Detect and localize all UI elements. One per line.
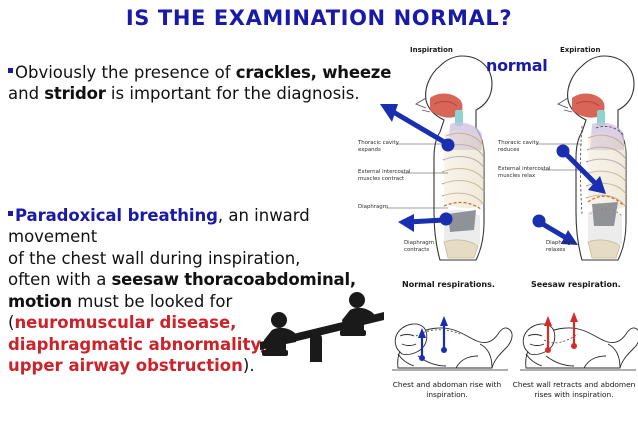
respiration-comparison-figure: Normal respirations. Seesaw respiration. <box>388 280 638 424</box>
annotation-diaphragm-relaxes: Diaphragm relaxes <box>546 240 586 253</box>
figure-heading-expiration: Expiration <box>560 46 600 54</box>
bullet-1-text-c: is important for the diagnosis. <box>106 84 360 103</box>
square-bullet-icon <box>8 68 13 73</box>
page-title: IS THE EXAMINATION NORMAL? <box>0 6 638 30</box>
figure-heading-inspiration: Inspiration <box>410 46 453 54</box>
annotation-diaphragm-contracts: Diaphragm contracts <box>404 240 444 253</box>
bullet-2-text-b: often with a <box>8 270 112 289</box>
bullet-2-line-2: of the chest wall during inspiration, <box>8 248 368 269</box>
bullet-2-text-c: must be looked for <box>72 292 232 311</box>
square-bullet-icon <box>8 211 13 216</box>
heading-seesaw-respiration: Seesaw respiration. <box>531 280 621 289</box>
caption-normal-respirations: Chest and abdoman rise with inspiration. <box>388 380 506 399</box>
bullet-1-text-a: Obviously the presence of <box>15 63 236 82</box>
torso-inspiration <box>416 56 492 260</box>
caption-seesaw-respiration: Chest wall retracts and abdomen rises wi… <box>510 380 638 399</box>
bullet-1-emph-stridor: stridor <box>44 84 105 103</box>
seesaw-svg <box>252 288 392 374</box>
annotation-thoracic-cavity-expands: Thoracic cavity expands <box>358 140 420 153</box>
bullet-1-text-b: and <box>8 84 44 103</box>
label-normal: normal <box>486 56 547 75</box>
bullet-2-emph-motion: motion <box>8 292 72 311</box>
annotation-thoracic-cavity-reduces: Thoracic cavity reduces <box>498 140 560 153</box>
anatomy-inspiration-expiration-figure: Inspiration Expiration normal <box>356 44 638 276</box>
respiration-svg <box>388 290 638 386</box>
bullet-2-emph-paradoxical-breathing: Paradoxical breathing <box>15 206 218 225</box>
bullet-2-line-1: Paradoxical breathing, an inward movemen… <box>8 205 368 248</box>
heading-normal-respirations: Normal respirations. <box>402 280 495 289</box>
red-cause-neuromuscular: neuromuscular disease, <box>14 313 236 332</box>
annotation-external-intercostal-relax: External intercostal muscles relax <box>498 166 560 179</box>
infant-seesaw <box>520 324 638 370</box>
bullet-2-emph-seesaw: seesaw thoracoabdominal, <box>112 270 356 289</box>
annotation-diaphragm-left: Diaphragm <box>358 204 420 211</box>
anatomy-svg <box>356 44 638 276</box>
infant-normal <box>392 324 512 370</box>
red-cause-upper-airway: upper airway obstruction <box>8 356 243 375</box>
annotation-external-intercostal-contract: External intercostal muscles contract <box>358 169 420 182</box>
seesaw-silhouette-figure <box>252 288 392 374</box>
